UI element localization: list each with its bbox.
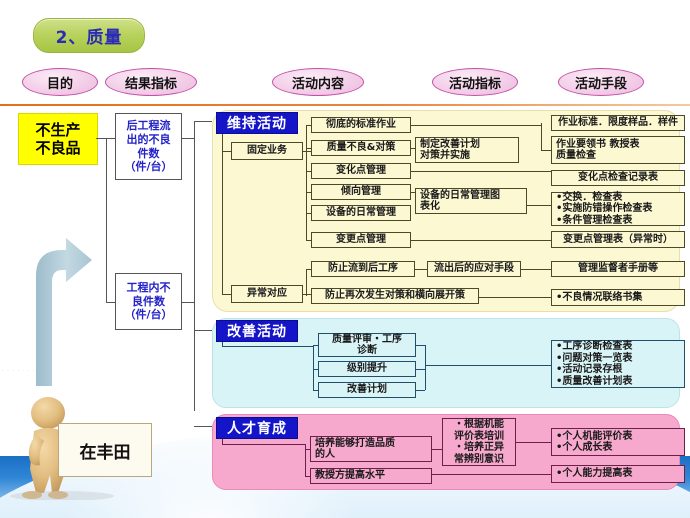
connector bbox=[306, 125, 311, 126]
content-box[interactable]: 倾向管理 bbox=[311, 184, 411, 200]
column-header-activity-means: 活动手段 bbox=[558, 68, 644, 96]
connector bbox=[182, 302, 194, 303]
group-label-abnormal-response[interactable]: 异常对应 bbox=[231, 285, 303, 303]
connector bbox=[527, 205, 551, 206]
indicator-box[interactable]: 流出后的应对手段 bbox=[427, 261, 521, 277]
column-label: 活动手段 bbox=[575, 73, 627, 92]
column-label: 活动指标 bbox=[449, 73, 501, 92]
means-box[interactable]: •个人机能评价表 •个人成长表 bbox=[551, 428, 685, 456]
connector bbox=[182, 138, 194, 139]
indicator-box[interactable]: 设备的日常管理图 表化 bbox=[415, 188, 527, 214]
connector bbox=[306, 125, 307, 240]
connector bbox=[305, 449, 310, 450]
content-box[interactable]: 彻底的标准作业 bbox=[311, 117, 411, 133]
connector bbox=[411, 148, 415, 149]
connector bbox=[194, 330, 212, 331]
column-header-purpose: 目的 bbox=[22, 68, 98, 96]
connector bbox=[425, 345, 426, 390]
connector bbox=[222, 134, 223, 294]
connector bbox=[306, 192, 311, 193]
connector bbox=[306, 269, 311, 270]
means-box[interactable]: •交换．检查表 •实施防错操作检查表 •条件管理检查表 bbox=[551, 192, 685, 226]
connector bbox=[313, 345, 314, 390]
connector bbox=[222, 346, 313, 347]
page-title: 2、质量 bbox=[56, 23, 123, 48]
content-box[interactable]: 教授方提高水平 bbox=[310, 468, 432, 484]
connector bbox=[313, 390, 318, 391]
connector bbox=[306, 269, 307, 296]
indicator-box[interactable]: 制定改善计划 对策并实施 bbox=[415, 137, 519, 163]
column-label: 目的 bbox=[47, 73, 73, 92]
sign-board: 在丰田 bbox=[58, 423, 152, 477]
content-box[interactable]: 设备的日常管理 bbox=[311, 205, 411, 221]
content-box[interactable]: 培养能够打造品质 的人 bbox=[310, 436, 432, 462]
sign-text: 在丰田 bbox=[80, 438, 131, 463]
connector bbox=[106, 138, 115, 139]
slide-canvas: . . . . . . . . 2、质量 目的 结果指标 活动内容 活动指标 活… bbox=[0, 0, 690, 518]
connector bbox=[416, 345, 425, 346]
connector bbox=[415, 269, 427, 270]
means-box[interactable]: •个人能力提高表 bbox=[551, 465, 685, 483]
connector bbox=[306, 240, 311, 241]
connector bbox=[306, 213, 311, 214]
content-box[interactable]: 改善计划 bbox=[318, 382, 416, 398]
connector bbox=[106, 302, 115, 303]
connector bbox=[106, 138, 107, 302]
connector bbox=[541, 150, 551, 151]
connector bbox=[303, 151, 311, 152]
result-indicator-box-1: 后工程流 出的不良 件数 （件/台） bbox=[115, 113, 182, 180]
content-box[interactable]: 变化点管理 bbox=[311, 163, 411, 179]
feedback-arrow bbox=[22, 236, 102, 386]
content-box[interactable]: 质量评审・工序 诊断 bbox=[318, 333, 416, 357]
result-indicator-box-2: 工程内不 良件数 （件/台） bbox=[115, 273, 182, 330]
content-box[interactable]: 级别提升 bbox=[318, 361, 416, 377]
content-box[interactable]: 防止再次发生对策和横向展开策 bbox=[311, 288, 479, 304]
group-label-fixed-work[interactable]: 固定业务 bbox=[231, 142, 303, 160]
connector bbox=[416, 390, 425, 391]
slide-title-pill: 2、质量 bbox=[33, 18, 145, 53]
connector bbox=[411, 192, 415, 193]
means-box[interactable]: 变化点检查记录表 bbox=[551, 170, 685, 186]
column-header-result-indicator: 结果指标 bbox=[105, 68, 197, 96]
means-box[interactable]: 作业要领书 教授表 质量检查 bbox=[551, 136, 685, 164]
connector bbox=[313, 345, 318, 346]
indicator-box[interactable]: ・根据机能 评价表培训 ・培养正异 常辨别意识 bbox=[442, 418, 516, 466]
connector bbox=[96, 138, 106, 139]
purpose-goal-box: 不生产 不良品 bbox=[18, 113, 98, 165]
connector bbox=[222, 444, 305, 445]
means-box[interactable]: 作业标准．限度样品．样件 bbox=[551, 115, 685, 131]
connector bbox=[425, 365, 551, 366]
content-box[interactable]: 防止流到后工序 bbox=[311, 261, 415, 277]
column-label: 结果指标 bbox=[125, 73, 177, 92]
column-header-activity-indicator: 活动指标 bbox=[432, 68, 518, 96]
section-header-maintain[interactable]: 维持活动 bbox=[216, 112, 298, 134]
means-box[interactable]: 管理监督者手册等 bbox=[551, 261, 685, 277]
connector bbox=[411, 240, 551, 241]
connector bbox=[222, 151, 231, 152]
connector bbox=[222, 294, 231, 295]
connector bbox=[411, 171, 551, 172]
connector bbox=[303, 294, 311, 295]
column-label: 活动内容 bbox=[292, 73, 344, 92]
connector bbox=[194, 426, 212, 427]
connector bbox=[194, 121, 195, 411]
means-box[interactable]: 变更点管理表（异常时） bbox=[551, 231, 685, 248]
header-divider-rule bbox=[0, 104, 690, 106]
connector bbox=[479, 297, 551, 298]
column-header-activity-content: 活动内容 bbox=[272, 68, 364, 96]
connector bbox=[306, 171, 311, 172]
content-box[interactable]: 变更点管理 bbox=[311, 232, 411, 248]
connector bbox=[541, 123, 542, 150]
connector bbox=[416, 369, 425, 370]
means-box[interactable]: •工序诊断检查表 •问题对策一览表 •活动记录存根 •质量改善计划表 bbox=[551, 340, 685, 388]
presenter-figure: 在丰田 bbox=[10, 395, 160, 500]
connector bbox=[521, 269, 551, 270]
connector bbox=[411, 125, 541, 126]
content-box[interactable]: 质量不良&对策 bbox=[311, 140, 411, 156]
connector bbox=[432, 474, 551, 475]
section-header-talent[interactable]: 人才育成 bbox=[216, 417, 298, 439]
section-header-improve[interactable]: 改善活动 bbox=[216, 320, 298, 342]
connector bbox=[313, 369, 318, 370]
connector bbox=[194, 121, 212, 122]
connector bbox=[516, 442, 551, 443]
connector bbox=[306, 148, 311, 149]
means-box[interactable]: •不良情况联络书集 bbox=[551, 289, 685, 306]
connector bbox=[305, 476, 310, 477]
connector bbox=[432, 449, 442, 450]
